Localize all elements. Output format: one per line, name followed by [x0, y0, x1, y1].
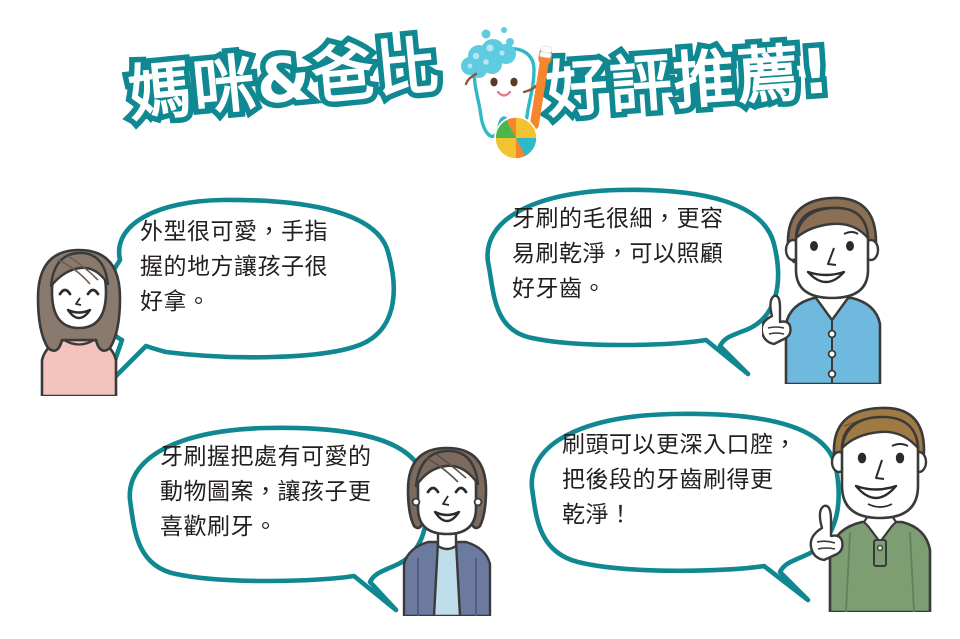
tooth-mascot-icon — [446, 26, 566, 166]
avatar-woman-pink-top — [24, 236, 134, 396]
avatar-man-green-polo — [806, 400, 938, 612]
promo-banner: 媽咪&爸比 好評推薦! — [0, 0, 960, 639]
avatar-woman-navy-cardigan — [388, 436, 506, 616]
page-title-left: 媽咪&爸比 — [126, 34, 443, 126]
testimonial-text-4: 刷頭可以更深入口腔， 把後段的牙齒刷得更 乾淨！ — [562, 428, 830, 533]
avatar-man-blue-shirt — [762, 188, 892, 384]
testimonial-text-1: 外型很可愛，手指 握的地方讓孩子很 好拿。 — [140, 215, 390, 320]
testimonial-text-2: 牙刷的毛很細，更容 易刷乾淨，可以照顧 好牙齒。 — [512, 202, 774, 307]
testimonial-bubble-2: 牙刷的毛很細，更容 易刷乾淨，可以照顧 好牙齒。 — [468, 178, 798, 383]
title-band: 媽咪&爸比 好評推薦! — [0, 0, 960, 180]
page-title-right: 好評推薦! — [544, 40, 834, 122]
testimonial-text-3: 牙刷握把處有可愛的 動物圖案，讓孩子更 喜歡刷牙。 — [160, 440, 410, 545]
